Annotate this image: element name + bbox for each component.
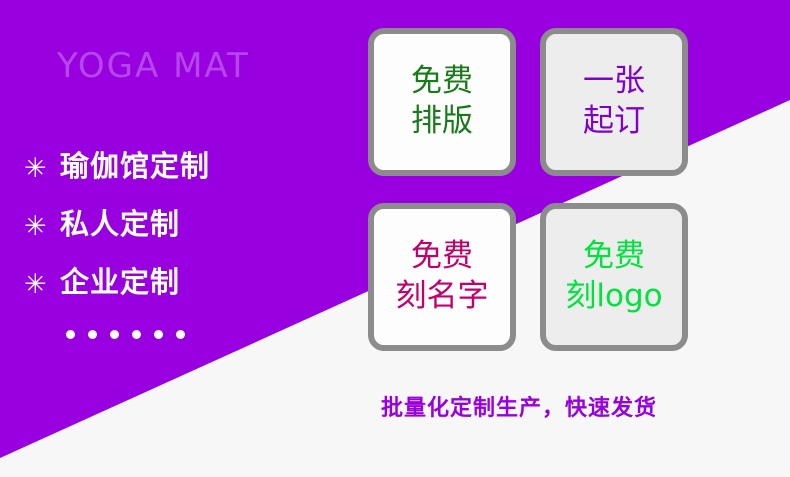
tagline-text: 批量化定制生产，快速发货 (381, 390, 657, 422)
feature-card-free-name-engraving: 免费 刻名字 (368, 203, 516, 351)
brand-watermark-text: YOGA MAT (57, 46, 250, 86)
card-line-2: 起订 (583, 102, 645, 142)
card-line-2: 排版 (411, 102, 473, 142)
feature-list: ✳ 瑜伽馆定制 ✳ 私人定制 ✳ 企业定制 (24, 135, 210, 309)
feature-card-grid: 免费 排版 一张 起订 免费 刻名字 免费 刻logo (368, 28, 698, 351)
dot-icon (110, 330, 119, 339)
dot-icon (66, 330, 75, 339)
asterisk-bullet-icon: ✳ (24, 155, 60, 182)
dot-icon (88, 330, 97, 339)
card-row-top: 免费 排版 一张 起订 (368, 28, 698, 176)
card-line-1: 免费 (583, 237, 645, 277)
card-line-1: 免费 (411, 237, 473, 277)
asterisk-bullet-icon: ✳ (24, 271, 60, 298)
card-line-1: 一张 (583, 62, 645, 102)
asterisk-bullet-icon: ✳ (24, 213, 60, 240)
list-item: ✳ 私人定制 (24, 193, 210, 251)
card-line-1: 免费 (411, 62, 473, 102)
feature-label: 瑜伽馆定制 (60, 143, 210, 185)
feature-card-min-order: 一张 起订 (540, 28, 688, 176)
dot-icon (154, 330, 163, 339)
dot-icon (132, 330, 141, 339)
left-content-column: YOGA MAT ✳ 瑜伽馆定制 ✳ 私人定制 ✳ 企业定制 (0, 0, 360, 477)
list-item: ✳ 企业定制 (24, 251, 210, 309)
ellipsis-dots (66, 330, 185, 339)
feature-card-free-logo-engraving: 免费 刻logo (540, 203, 688, 351)
card-line-2: 刻名字 (396, 277, 489, 317)
card-line-2: 刻logo (565, 277, 662, 317)
list-item: ✳ 瑜伽馆定制 (24, 135, 210, 193)
promo-banner: YOGA MAT ✳ 瑜伽馆定制 ✳ 私人定制 ✳ 企业定制 (0, 0, 790, 477)
feature-label: 私人定制 (60, 201, 180, 243)
feature-card-free-layout: 免费 排版 (368, 28, 516, 176)
feature-label: 企业定制 (60, 259, 180, 301)
dot-icon (176, 330, 185, 339)
card-row-bottom: 免费 刻名字 免费 刻logo (368, 203, 698, 351)
